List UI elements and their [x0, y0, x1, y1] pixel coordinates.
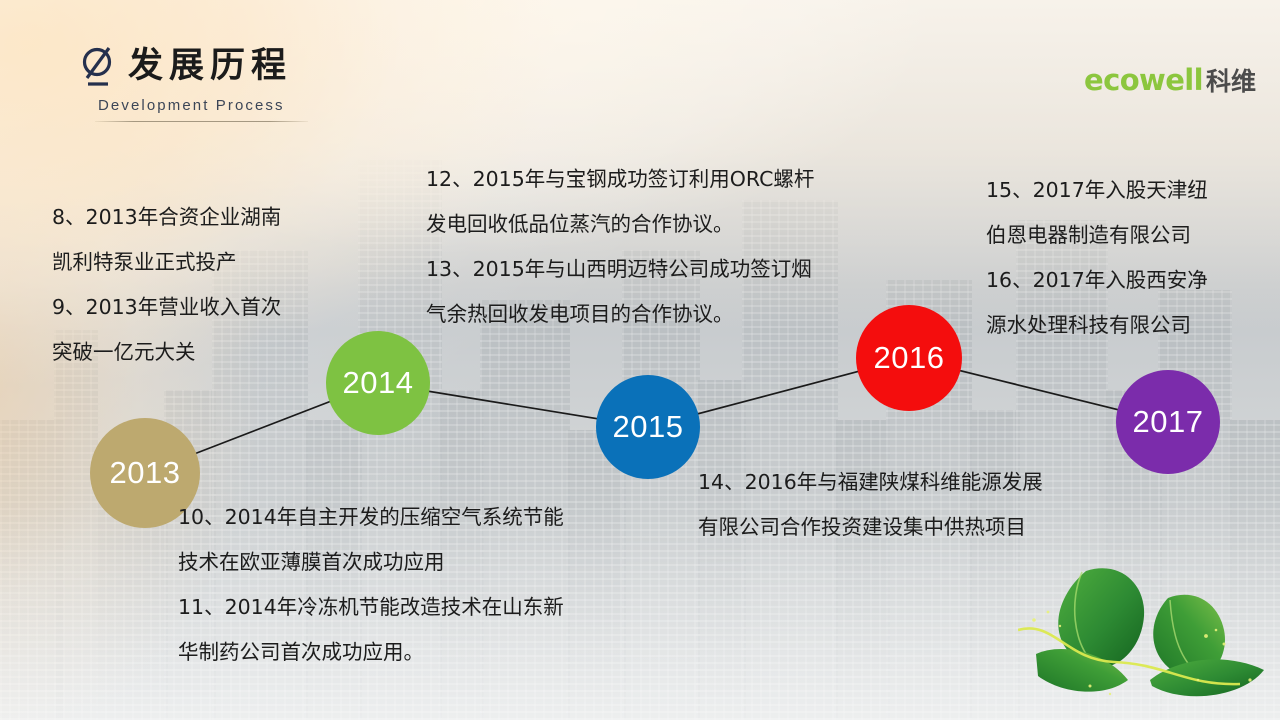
page-title: 发展历程 [128, 49, 292, 84]
entry-text-10-11: 10、2014年自主开发的压缩空气系统节能 技术在欧亚薄膜首次成功应用 11、2… [178, 495, 564, 675]
entry-line: 14、2016年与福建陕煤科维能源发展 [698, 460, 1043, 505]
page-subtitle: Development Process [98, 97, 308, 114]
timeline-node-label: 2017 [1133, 404, 1204, 440]
entry-line: 凯利特泵业正式投产 [52, 240, 281, 285]
entry-line: 15、2017年入股天津纽 [986, 168, 1208, 213]
entry-text-12-13: 12、2015年与宝钢成功签订利用ORC螺杆 发电回收低品位蒸汽的合作协议。 1… [426, 157, 814, 337]
timeline-node-2014[interactable]: 2014 [326, 331, 430, 435]
entry-line: 发电回收低品位蒸汽的合作协议。 [426, 202, 814, 247]
timeline-node-label: 2015 [613, 409, 684, 445]
timeline-node-2016[interactable]: 2016 [856, 305, 962, 411]
entry-text-15-16: 15、2017年入股天津纽 伯恩电器制造有限公司 16、2017年入股西安净 源… [986, 168, 1208, 348]
entry-line: 12、2015年与宝钢成功签订利用ORC螺杆 [426, 157, 814, 202]
timeline-node-2017[interactable]: 2017 [1116, 370, 1220, 474]
entry-line: 技术在欧亚薄膜首次成功应用 [178, 540, 564, 585]
timeline-node-2015[interactable]: 2015 [596, 375, 700, 479]
brand-logo: ecowell 科维 [1084, 62, 1256, 98]
entry-line: 源水处理科技有限公司 [986, 303, 1208, 348]
entry-line: 10、2014年自主开发的压缩空气系统节能 [178, 495, 564, 540]
entry-line: 9、2013年营业收入首次 [52, 285, 281, 330]
title-row: 发展历程 [78, 44, 308, 88]
brand-logo-text-cn: 科维 [1206, 62, 1256, 98]
timeline-node-label: 2014 [343, 365, 414, 401]
entry-line: 8、2013年合资企业湖南 [52, 195, 281, 240]
timeline-node-label: 2013 [110, 455, 181, 491]
entry-line: 有限公司合作投资建设集中供热项目 [698, 505, 1043, 550]
brand-logo-text: ecowell [1084, 63, 1203, 97]
timeline-node-label: 2016 [874, 340, 945, 376]
entry-line: 伯恩电器制造有限公司 [986, 213, 1208, 258]
entry-line: 华制药公司首次成功应用。 [178, 630, 564, 675]
entry-text-14: 14、2016年与福建陕煤科维能源发展 有限公司合作投资建设集中供热项目 [698, 460, 1043, 550]
entry-line: 16、2017年入股西安净 [986, 258, 1208, 303]
slide-header: 发展历程 Development Process [78, 44, 308, 122]
entry-line: 气余热回收发电项目的合作协议。 [426, 292, 814, 337]
slide-canvas: 发展历程 Development Process ecowell 科维 2013… [0, 0, 1280, 720]
entry-text-8-9: 8、2013年合资企业湖南 凯利特泵业正式投产 9、2013年营业收入首次 突破… [52, 195, 281, 375]
green-leaves-graphic [1018, 534, 1278, 720]
title-divider [95, 121, 308, 122]
slashed-circle-mark-icon [78, 44, 118, 88]
entry-line: 11、2014年冷冻机节能改造技术在山东新 [178, 585, 564, 630]
entry-line: 突破一亿元大关 [52, 330, 281, 375]
entry-line: 13、2015年与山西明迈特公司成功签订烟 [426, 247, 814, 292]
